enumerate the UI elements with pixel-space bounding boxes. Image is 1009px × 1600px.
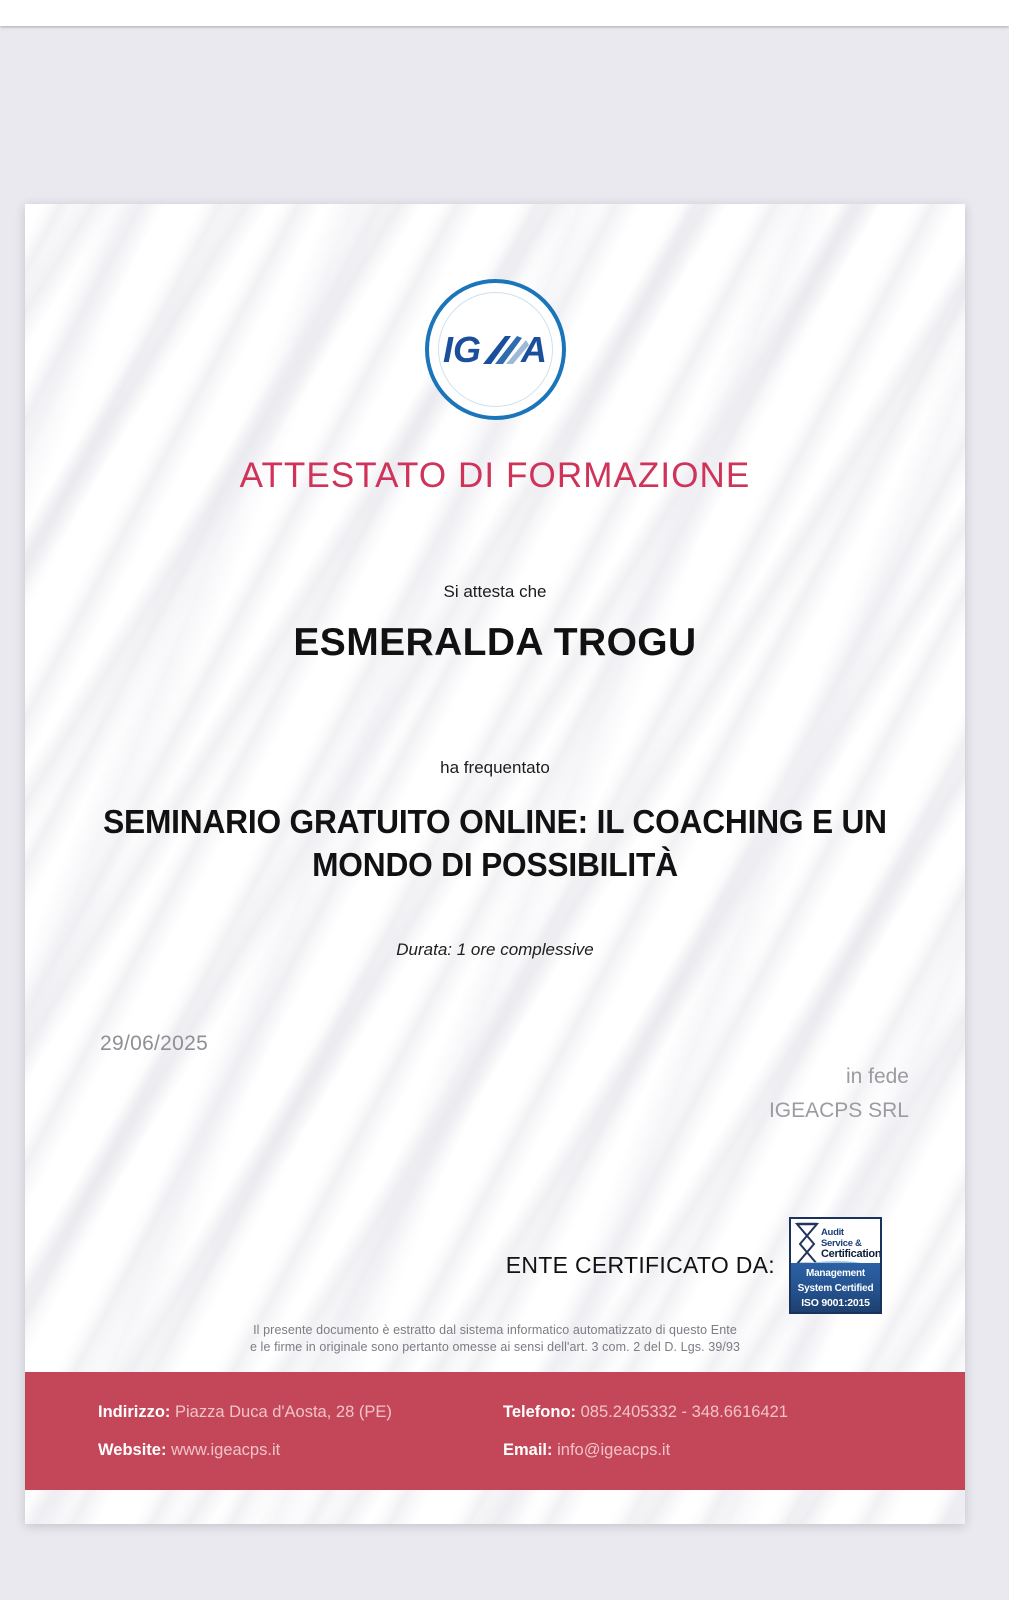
- signature-block: in fede IGEACPS SRL: [769, 1060, 909, 1128]
- course-title: SEMINARIO GRATUITO ONLINE: IL COACHING E…: [87, 800, 903, 886]
- disclaimer-line-1: Il presente documento è estratto dal sis…: [145, 1322, 845, 1339]
- footer-website-value[interactable]: www.igeacps.it: [171, 1441, 280, 1459]
- footer-column-right: Telefono: 085.2405332 - 348.6616421 Emai…: [503, 1393, 788, 1469]
- igea-logo-icon: IG A: [443, 326, 547, 374]
- attests-label: Si attesta che: [25, 582, 965, 602]
- logo-container: IG A: [25, 279, 965, 420]
- footer-phone-row: Telefono: 085.2405332 - 348.6616421: [503, 1393, 788, 1431]
- disclaimer: Il presente documento è estratto dal sis…: [145, 1322, 845, 1356]
- iso-badge-standard: ISO 9001:2015: [791, 1296, 880, 1311]
- svg-text:IG: IG: [443, 329, 481, 370]
- certificate-title: ATTESTATO DI FORMAZIONE: [25, 456, 965, 496]
- iso-9001-badge: Audit Service & Certification Management…: [789, 1217, 882, 1314]
- course-duration: Durata: 1 ore complessive: [25, 940, 965, 960]
- svg-text:A: A: [520, 329, 547, 370]
- signature-company: IGEACPS SRL: [769, 1094, 909, 1128]
- footer-address-value: Piazza Duca d'Aosta, 28 (PE): [175, 1403, 392, 1421]
- footer-email-value[interactable]: info@igeacps.it: [557, 1441, 670, 1459]
- iso-badge-management: Management: [791, 1266, 880, 1281]
- footer-address-row: Indirizzo: Piazza Duca d'Aosta, 28 (PE): [98, 1393, 503, 1431]
- iso-badge-system-certified: System Certified: [791, 1281, 880, 1296]
- igea-logo-ring: IG A: [425, 279, 566, 420]
- footer-email-label: Email:: [503, 1441, 553, 1459]
- browser-top-bar: [0, 0, 1009, 26]
- issue-date: 29/06/2025: [100, 1032, 208, 1056]
- contact-footer: Indirizzo: Piazza Duca d'Aosta, 28 (PE) …: [25, 1372, 965, 1490]
- signature-in-fede: in fede: [769, 1060, 909, 1094]
- hourglass-icon: [794, 1222, 820, 1266]
- footer-phone-value[interactable]: 085.2405332 - 348.6616421: [581, 1403, 788, 1421]
- footer-phone-label: Telefono:: [503, 1403, 576, 1421]
- recipient-name: ESMERALDA TROGU: [25, 621, 965, 665]
- attended-label: ha frequentato: [25, 758, 965, 778]
- iso-badge-bottom: Management System Certified ISO 9001:201…: [791, 1263, 880, 1312]
- disclaimer-line-2: e le firme in originale sono pertanto om…: [145, 1339, 845, 1356]
- iso-badge-wordmark: Audit Service & Certification: [820, 1228, 881, 1260]
- footer-column-left: Indirizzo: Piazza Duca d'Aosta, 28 (PE) …: [98, 1393, 503, 1469]
- footer-address-label: Indirizzo:: [98, 1403, 170, 1421]
- certified-by-label: ENTE CERTIFICATO DA:: [506, 1252, 775, 1279]
- iso-badge-line3: Certification: [821, 1249, 881, 1260]
- iso-badge-top: Audit Service & Certification: [791, 1219, 880, 1269]
- footer-email-row: Email: info@igeacps.it: [503, 1431, 788, 1469]
- document-viewport: IG A ATTESTATO DI FORMAZIONE Si attesta …: [0, 26, 1009, 1600]
- footer-website-row: Website: www.igeacps.it: [98, 1431, 503, 1469]
- footer-website-label: Website:: [98, 1441, 166, 1459]
- certificate-sheet: IG A ATTESTATO DI FORMAZIONE Si attesta …: [25, 204, 965, 1524]
